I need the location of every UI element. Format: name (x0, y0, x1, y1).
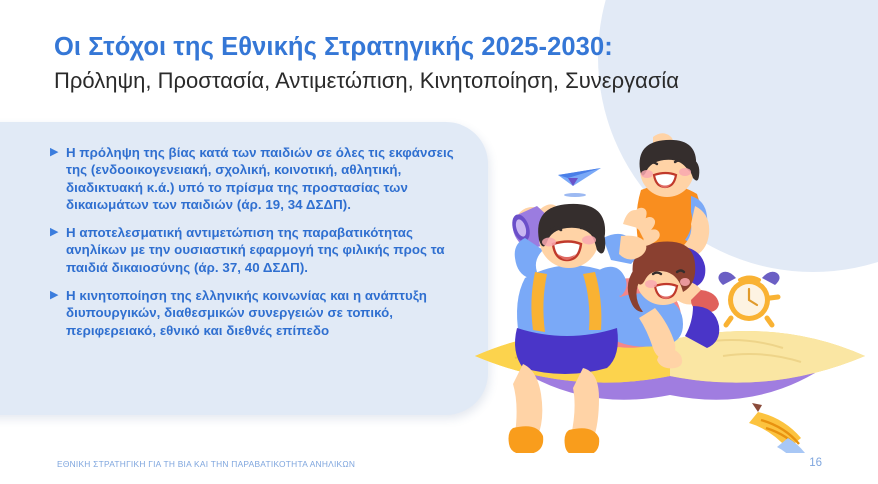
list-item-text: Η αποτελεσματική αντιμετώπιση της παραβα… (66, 224, 454, 276)
pencil-icon (749, 403, 805, 453)
open-book (475, 331, 865, 400)
triangle-bullet-icon: ▶ (50, 224, 66, 241)
list-item-text: Η κινητοποίηση της ελληνικής κοινωνίας κ… (66, 287, 454, 339)
slide-title: Οι Στόχοι της Εθνικής Στρατηγικής 2025-2… (54, 32, 814, 63)
slide-16: Οι Στόχοι της Εθνικής Στρατηγικής 2025-2… (0, 0, 878, 484)
list-item: ▶ Η αποτελεσματική αντιμετώπιση της παρα… (50, 224, 454, 276)
list-item-text: Η πρόληψη της βίας κατά των παιδιών σε ό… (66, 144, 454, 213)
objectives-list: ▶ Η πρόληψη της βίας κατά των παιδιών σε… (50, 144, 454, 350)
telescope-icon (509, 206, 567, 248)
page-number: 16 (809, 457, 822, 469)
slide-subtitle: Πρόληψη, Προστασία, Αντιμετώπιση, Κινητο… (54, 67, 814, 95)
illustration-children-on-book (455, 128, 875, 453)
paper-airplane-icon (558, 168, 601, 197)
footer-label: ΕΘΝΙΚΗ ΣΤΡΑΤΗΓΙΚΗ ΓΙΑ ΤΗ ΒΙΑ ΚΑΙ ΤΗΝ ΠΑΡ… (57, 459, 355, 469)
triangle-bullet-icon: ▶ (50, 287, 66, 304)
child-with-telescope (509, 204, 660, 453)
triangle-bullet-icon: ▶ (50, 144, 66, 161)
list-item: ▶ Η πρόληψη της βίας κατά των παιδιών σε… (50, 144, 454, 213)
alarm-clock-icon (718, 272, 779, 325)
list-item: ▶ Η κινητοποίηση της ελληνικής κοινωνίας… (50, 287, 454, 339)
child-lying-down (575, 241, 719, 368)
child-cheering (636, 133, 719, 312)
page-title: Οι Στόχοι της Εθνικής Στρατηγικής 2025-2… (54, 32, 814, 95)
